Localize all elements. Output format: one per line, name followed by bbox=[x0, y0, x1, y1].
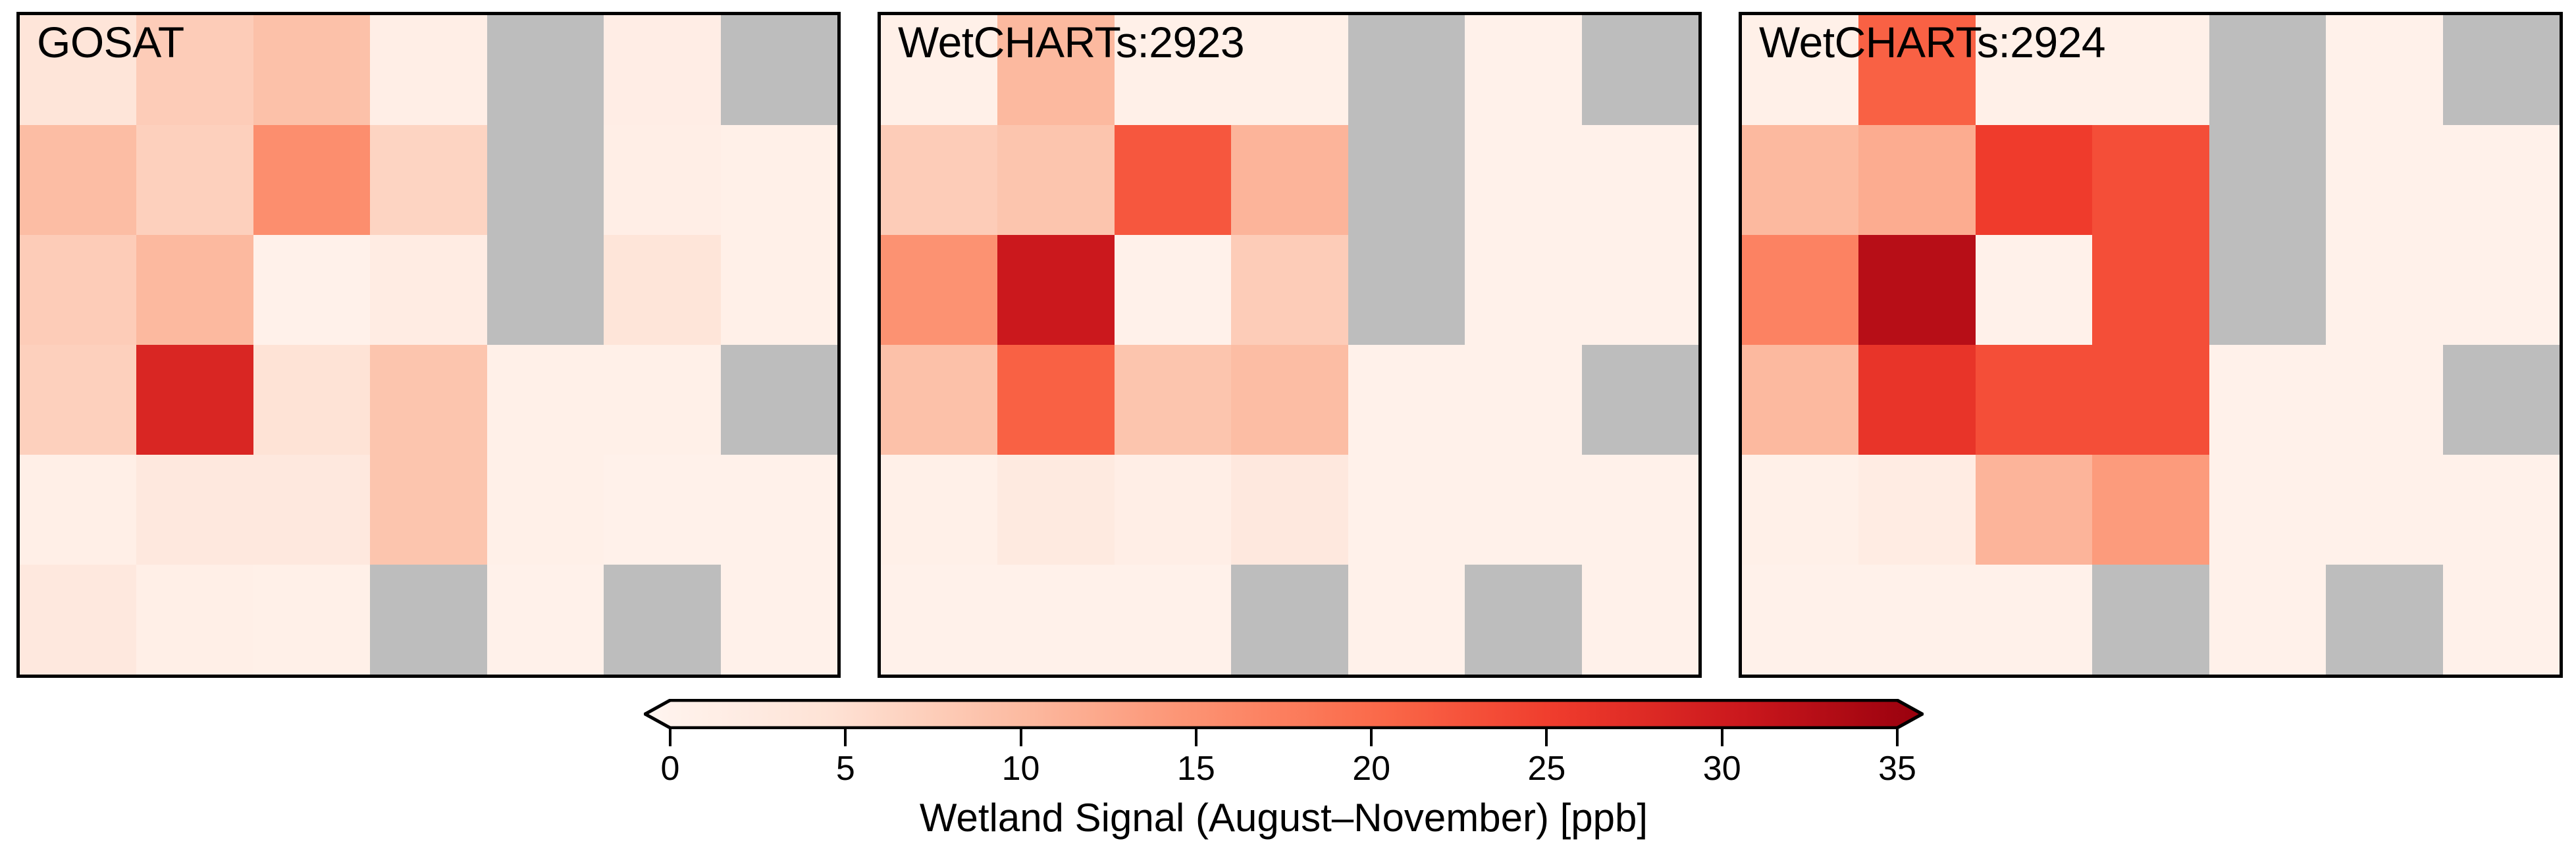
heatmap-cell bbox=[721, 565, 837, 675]
heatmap-cell bbox=[1115, 565, 1231, 675]
heatmap-cell bbox=[997, 235, 1114, 345]
heatmap-cell bbox=[721, 125, 837, 235]
heatmap-panel-wetcharts-2924[interactable]: WetCHARTs:2924 bbox=[1739, 12, 2563, 678]
colorbar-tick-label: 10 bbox=[1002, 749, 1040, 788]
heatmap-cell bbox=[20, 345, 136, 455]
heatmap-cell bbox=[1582, 235, 1698, 345]
heatmap-cell bbox=[881, 455, 997, 565]
heatmap-cell bbox=[1976, 455, 2092, 565]
heatmap-cell bbox=[1348, 455, 1465, 565]
heatmap-cell bbox=[604, 125, 720, 235]
heatmap-cell bbox=[997, 565, 1114, 675]
panel-title: WetCHARTs:2923 bbox=[898, 20, 1244, 64]
heatmap-cell bbox=[370, 15, 486, 125]
heatmap-cell bbox=[1231, 345, 1348, 455]
heatmap-cell bbox=[136, 125, 253, 235]
colorbar-tick-label: 5 bbox=[836, 749, 855, 788]
heatmap-cell bbox=[1115, 235, 1231, 345]
heatmap-cell bbox=[1115, 125, 1231, 235]
heatmap-cell bbox=[487, 565, 604, 675]
heatmap-cell bbox=[370, 235, 486, 345]
heatmap-cell bbox=[487, 125, 604, 235]
heatmap-cell bbox=[2092, 565, 2209, 675]
heatmap-cell bbox=[881, 235, 997, 345]
heatmap-cell bbox=[1976, 345, 2092, 455]
colorbar-tick-label: 30 bbox=[1703, 749, 1741, 788]
heatmap-cell bbox=[721, 15, 837, 125]
colorbar-tick bbox=[1896, 729, 1899, 746]
heatmap-panel-gosat[interactable]: GOSAT bbox=[16, 12, 841, 678]
heatmap-cell bbox=[1348, 345, 1465, 455]
heatmap-cell bbox=[997, 345, 1114, 455]
heatmap-cell bbox=[2443, 345, 2560, 455]
heatmap-cell bbox=[1348, 565, 1465, 675]
heatmap-cell bbox=[721, 455, 837, 565]
heatmap-cell bbox=[1231, 125, 1348, 235]
heatmap-cell bbox=[1582, 125, 1698, 235]
heatmap-cell bbox=[881, 565, 997, 675]
heatmap-cell bbox=[997, 455, 1114, 565]
heatmap-cell bbox=[253, 125, 370, 235]
heatmap-cell bbox=[1742, 345, 1858, 455]
heatmap-cell bbox=[2443, 455, 2560, 565]
heatmap-cell bbox=[1115, 455, 1231, 565]
heatmap-cell bbox=[1348, 125, 1465, 235]
colorbar-tick bbox=[844, 729, 847, 746]
heatmap-cell bbox=[2326, 15, 2442, 125]
heatmap-cell bbox=[604, 15, 720, 125]
panel-title: GOSAT bbox=[37, 20, 184, 64]
colorbar-tick-label: 15 bbox=[1177, 749, 1215, 788]
heatmap-cell bbox=[1582, 565, 1698, 675]
panel-title: WetCHARTs:2924 bbox=[1759, 20, 2105, 64]
colorbar-tick bbox=[1545, 729, 1548, 746]
heatmap-cell bbox=[1858, 565, 1975, 675]
heatmap-cell bbox=[1231, 455, 1348, 565]
heatmap-cell bbox=[1582, 15, 1698, 125]
heatmap-cell bbox=[1465, 235, 1581, 345]
colorbar-tick-label: 25 bbox=[1528, 749, 1566, 788]
colorbar-tick bbox=[1370, 729, 1373, 746]
heatmap-cell bbox=[1348, 235, 1465, 345]
heatmap-cell bbox=[604, 235, 720, 345]
heatmap-cell bbox=[253, 455, 370, 565]
figure-canvas: GOSAT WetCHARTs:2923 WetCHARTs:2924 Wetl… bbox=[0, 0, 2576, 845]
heatmap-cell bbox=[1976, 565, 2092, 675]
heatmap-cell bbox=[1742, 565, 1858, 675]
heatmap-cell bbox=[2209, 15, 2326, 125]
heatmap-cell bbox=[2092, 15, 2209, 125]
heatmap-cell bbox=[1582, 345, 1698, 455]
heatmap-cell bbox=[604, 345, 720, 455]
heatmap-cell bbox=[1858, 235, 1975, 345]
heatmap-cell bbox=[370, 125, 486, 235]
colorbar-tick bbox=[1195, 729, 1197, 746]
heatmap-cell bbox=[1465, 15, 1581, 125]
heatmap-cell bbox=[1465, 125, 1581, 235]
heatmap-cell bbox=[2209, 235, 2326, 345]
heatmap-cell bbox=[370, 345, 486, 455]
heatmap-cell bbox=[604, 455, 720, 565]
heatmap-cell bbox=[253, 15, 370, 125]
colorbar[interactable]: Wetland Signal (August–November) [ppb] 0… bbox=[644, 699, 1924, 700]
heatmap-cell bbox=[881, 345, 997, 455]
heatmap-cell bbox=[1858, 125, 1975, 235]
heatmap-cell bbox=[487, 235, 604, 345]
heatmap-grid bbox=[20, 15, 837, 675]
heatmap-cell bbox=[253, 345, 370, 455]
colorbar-tick bbox=[1721, 729, 1723, 746]
heatmap-cell bbox=[2209, 565, 2326, 675]
heatmap-cell bbox=[1976, 125, 2092, 235]
heatmap-cell bbox=[1858, 455, 1975, 565]
heatmap-cell bbox=[2092, 235, 2209, 345]
heatmap-cell bbox=[2209, 125, 2326, 235]
colorbar-tick bbox=[1020, 729, 1022, 746]
heatmap-cell bbox=[1582, 455, 1698, 565]
heatmap-cell bbox=[136, 345, 253, 455]
heatmap-cell bbox=[136, 455, 253, 565]
heatmap-cell bbox=[1465, 345, 1581, 455]
heatmap-cell bbox=[2443, 125, 2560, 235]
heatmap-cell bbox=[1231, 565, 1348, 675]
heatmap-cell bbox=[253, 235, 370, 345]
heatmap-cell bbox=[721, 235, 837, 345]
colorbar-gradient-bar bbox=[644, 699, 1924, 729]
colorbar-body bbox=[645, 700, 1922, 728]
heatmap-cell bbox=[1348, 15, 1465, 125]
heatmap-cell bbox=[881, 125, 997, 235]
heatmap-cell bbox=[20, 125, 136, 235]
heatmap-cell bbox=[2326, 235, 2442, 345]
heatmap-cell bbox=[997, 125, 1114, 235]
heatmap-cell bbox=[1115, 345, 1231, 455]
heatmap-cell bbox=[2326, 125, 2442, 235]
heatmap-cell bbox=[487, 455, 604, 565]
colorbar-tick-label: 20 bbox=[1352, 749, 1390, 788]
heatmap-cell bbox=[1976, 235, 2092, 345]
heatmap-cell bbox=[487, 345, 604, 455]
heatmap-cell bbox=[1742, 125, 1858, 235]
heatmap-cell bbox=[2092, 345, 2209, 455]
heatmap-grid bbox=[1742, 15, 2560, 675]
heatmap-cell bbox=[1858, 345, 1975, 455]
heatmap-cell bbox=[20, 565, 136, 675]
heatmap-panel-wetcharts-2923[interactable]: WetCHARTs:2923 bbox=[878, 12, 1702, 678]
heatmap-cell bbox=[1465, 565, 1581, 675]
heatmap-cell bbox=[721, 345, 837, 455]
heatmap-cell bbox=[2092, 455, 2209, 565]
heatmap-cell bbox=[253, 565, 370, 675]
heatmap-cell bbox=[1231, 235, 1348, 345]
colorbar-tick-label: 35 bbox=[1878, 749, 1916, 788]
heatmap-cell bbox=[2209, 455, 2326, 565]
heatmap-cell bbox=[136, 565, 253, 675]
heatmap-cell bbox=[1742, 455, 1858, 565]
heatmap-cell bbox=[2092, 125, 2209, 235]
heatmap-cell bbox=[2209, 345, 2326, 455]
heatmap-grid bbox=[881, 15, 1698, 675]
heatmap-cell bbox=[370, 455, 486, 565]
heatmap-cell bbox=[487, 15, 604, 125]
heatmap-cell bbox=[2443, 565, 2560, 675]
heatmap-cell bbox=[2326, 345, 2442, 455]
heatmap-cell bbox=[20, 235, 136, 345]
colorbar-tick bbox=[669, 729, 671, 746]
colorbar-axis-label: Wetland Signal (August–November) [ppb] bbox=[644, 795, 1924, 840]
heatmap-cell bbox=[1465, 455, 1581, 565]
heatmap-cell bbox=[2326, 455, 2442, 565]
heatmap-cell bbox=[1231, 15, 1348, 125]
heatmap-cell bbox=[136, 235, 253, 345]
heatmap-cell bbox=[2326, 565, 2442, 675]
heatmap-cell bbox=[1742, 235, 1858, 345]
heatmap-cell bbox=[370, 565, 486, 675]
heatmap-cell bbox=[20, 455, 136, 565]
heatmap-cell bbox=[2443, 15, 2560, 125]
heatmap-cell bbox=[604, 565, 720, 675]
colorbar-tick-label: 0 bbox=[661, 749, 680, 788]
heatmap-cell bbox=[2443, 235, 2560, 345]
